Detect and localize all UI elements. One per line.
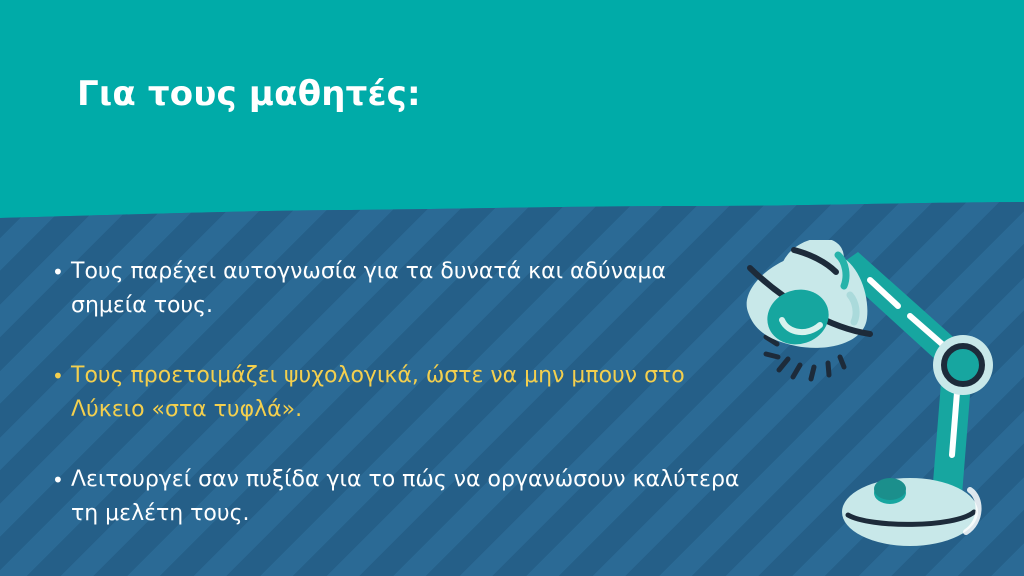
lamp-joint-ring [944, 346, 982, 384]
list-item-label: Λειτουργεί σαν πυξίδα για το πώς να οργα… [71, 463, 742, 531]
page-title: Για τους μαθητές: [77, 74, 421, 114]
bullet-dot-icon: • [52, 255, 71, 289]
bullet-dot-icon: • [52, 463, 71, 497]
list-item-label: Τους παρέχει αυτογνωσία για τα δυνατά κα… [71, 255, 742, 323]
bullet-dot-icon: • [52, 359, 71, 393]
list-item-label: Τους προετοιμάζει ψυχολογικά, ώστε να μη… [71, 359, 742, 427]
list-item: • Λειτουργεί σαν πυξίδα για το πώς να ορ… [52, 463, 742, 531]
lamp-switch-knob-top[interactable] [874, 478, 906, 500]
list-item: • Τους παρέχει αυτογνωσία για τα δυνατά … [52, 255, 742, 323]
list-item: • Τους προετοιμάζει ψυχολογικά, ώστε να … [52, 359, 742, 427]
bullet-list: • Τους παρέχει αυτογνωσία για τα δυνατά … [52, 255, 742, 531]
lamp-base [842, 478, 978, 546]
desk-lamp-icon [730, 240, 1024, 560]
slide-canvas: Για τους μαθητές: • Τους παρέχει αυτογνω… [0, 0, 1024, 576]
